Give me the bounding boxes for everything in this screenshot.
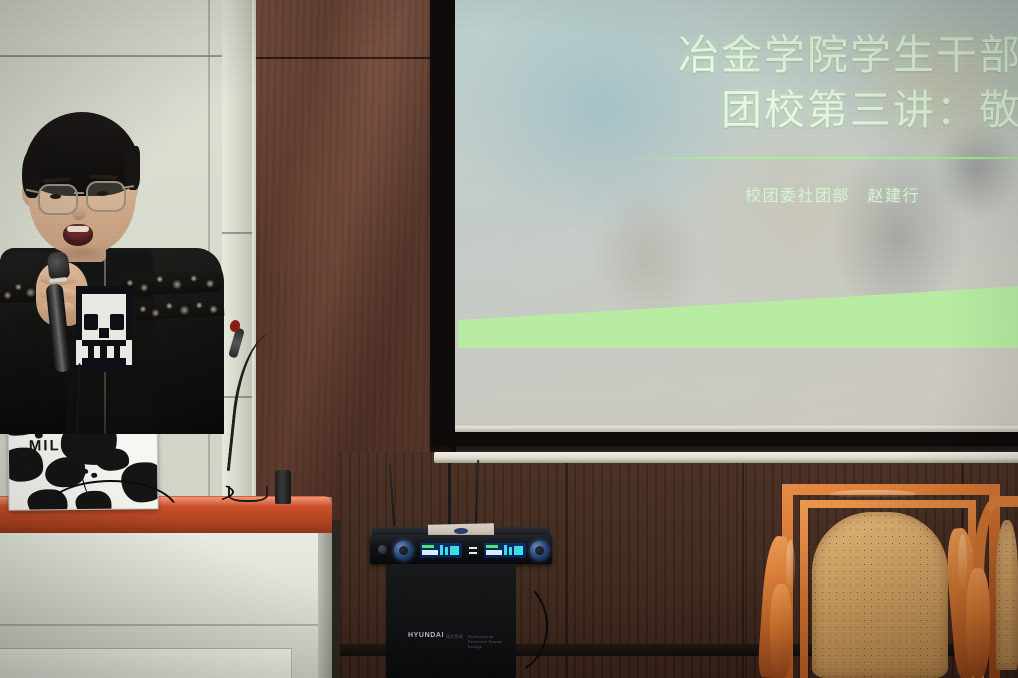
eye-left	[50, 194, 61, 199]
receiver-power-button[interactable]	[378, 545, 387, 554]
receiver-knob-left[interactable]	[394, 541, 413, 560]
chair-2-armrest	[966, 568, 990, 678]
chair-cane-mesh	[812, 512, 948, 678]
speaker-brand-sub-label: 现代音响	[446, 634, 463, 640]
slide-divider-rule	[634, 157, 1018, 159]
shirt-pixel-skull	[76, 286, 132, 372]
receiver-knob-right[interactable]	[530, 541, 549, 560]
receiver-knob-left-center	[399, 546, 408, 555]
screen-roller-bar	[434, 452, 1018, 463]
laptop-milk-label: MILK	[29, 437, 74, 454]
wireless-receiver-unit[interactable]	[370, 535, 552, 564]
speaker-brand-label: HYUNDAI	[408, 632, 444, 639]
hair-sideburn-right	[124, 146, 140, 190]
wall-seam-horizontal	[0, 55, 238, 57]
receiver-lcd-channel-b	[484, 543, 526, 558]
slide-title-line-1: 冶金学院学生干部	[560, 28, 1018, 83]
chair-left-highlight	[786, 540, 795, 596]
podium-seam-1	[0, 624, 319, 626]
eye-right	[97, 191, 108, 196]
podium-front-panel	[0, 648, 292, 678]
screen-bottom-trim	[455, 426, 1018, 432]
lecture-hall-photo: 冶金学院学生干部 团校第三讲：敬 校团委社团部 赵建行 MILK	[0, 0, 1018, 678]
pillar-seam-1	[222, 232, 254, 234]
speaker-tagline-label: Professional Precision Sound Design	[468, 634, 512, 649]
receiver-knob-right-center	[535, 546, 544, 555]
nose	[72, 200, 86, 220]
glasses-bridge	[74, 192, 84, 194]
teeth	[67, 226, 89, 232]
glasses-lens-right	[86, 181, 126, 212]
receiver-lcd-channel-a	[420, 543, 462, 558]
chair-2-cane-mesh	[996, 520, 1018, 670]
slide-title-line-2: 团校第三讲：敬	[560, 83, 1018, 138]
chair-arm-support-left	[770, 584, 792, 678]
receiver-center-panel	[466, 543, 480, 558]
handheld-mic-grille[interactable]	[47, 251, 71, 280]
podium-side-edge	[318, 533, 332, 678]
marble-grout-line	[254, 57, 432, 59]
slide-subtitle: 校团委社团部 赵建行	[745, 182, 920, 206]
chair-top-highlight	[830, 490, 916, 498]
gooseneck-mic-foot	[228, 486, 268, 502]
chair-right-highlight	[958, 534, 967, 594]
paper-mark	[454, 528, 468, 534]
speaker-cabinet: HYUNDAI 现代音响 Professional Precision Soun…	[386, 564, 516, 678]
